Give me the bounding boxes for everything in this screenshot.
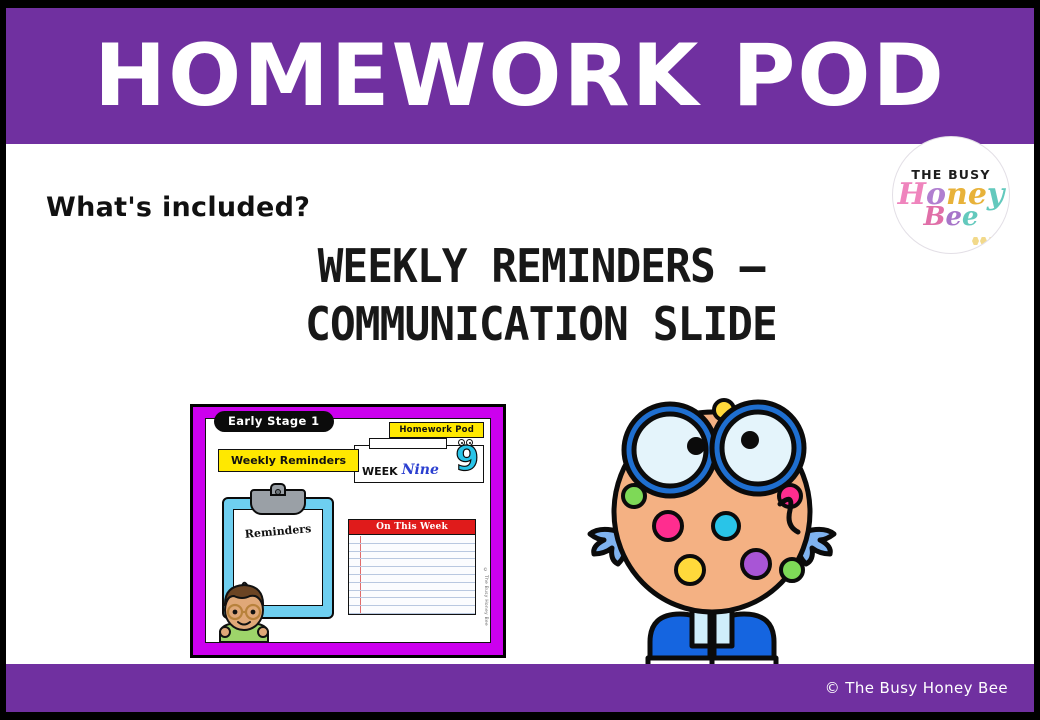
thumbnail-magenta-border: Early Stage 1 Homework Pod Weekly Remind…	[193, 407, 503, 655]
whats-included-label: What's included?	[46, 192, 310, 223]
logo-letter: e	[962, 202, 979, 232]
week-banner: WEEK Nine 9	[354, 445, 484, 483]
banner-tab	[369, 438, 447, 449]
slide-root: HOMEWORK POD THE BUSY Honey Bee What's i…	[0, 0, 1040, 720]
logo-letter: e	[945, 202, 962, 232]
logo-letter: B	[923, 202, 945, 232]
thumbnail-watermark: © The Busy Honey Bee	[483, 568, 488, 626]
slide-page: HOMEWORK POD THE BUSY Honey Bee What's i…	[6, 8, 1034, 712]
slide-preview-thumbnail[interactable]: Early Stage 1 Homework Pod Weekly Remind…	[190, 404, 506, 658]
weekly-reminders-tag: Weekly Reminders	[218, 449, 359, 472]
list-ruled-lines	[349, 536, 475, 614]
logo-letter: H	[898, 177, 926, 212]
resource-title-line1: WEEKLY REMINDERS –	[206, 238, 876, 296]
header-banner: HOMEWORK POD	[6, 8, 1034, 144]
on-this-week-list: On This Week	[348, 519, 476, 615]
week-word: Nine	[402, 462, 439, 478]
homework-pod-tag: Homework Pod	[389, 422, 484, 438]
resource-title: WEEKLY REMINDERS – COMMUNICATION SLIDE	[206, 238, 876, 354]
copyright-text: © The Busy Honey Bee	[825, 679, 1008, 697]
clipboard-clip-icon	[250, 489, 306, 515]
page-title: HOMEWORK POD	[6, 33, 1034, 119]
brand-logo: THE BUSY Honey Bee	[892, 136, 1010, 254]
list-header: On This Week	[349, 520, 475, 535]
clipboard-knob-icon	[270, 483, 286, 496]
week-number: 9	[455, 442, 479, 476]
resource-title-line2: COMMUNICATION SLIDE	[206, 296, 876, 354]
week-row: WEEK Nine	[362, 462, 439, 478]
logo-bee-script: Bee	[923, 206, 978, 229]
googly-eyes-icon	[458, 439, 473, 446]
stage-badge: Early Stage 1	[214, 411, 334, 432]
kid-character-icon	[212, 580, 276, 642]
week-label: WEEK	[362, 465, 398, 478]
logo-letter: y	[987, 177, 1004, 212]
footer-banner: © The Busy Honey Bee	[6, 664, 1034, 712]
mascot-character	[572, 392, 852, 682]
honeycomb-icon	[972, 237, 995, 245]
thumbnail-canvas: Early Stage 1 Homework Pod Weekly Remind…	[205, 418, 491, 643]
